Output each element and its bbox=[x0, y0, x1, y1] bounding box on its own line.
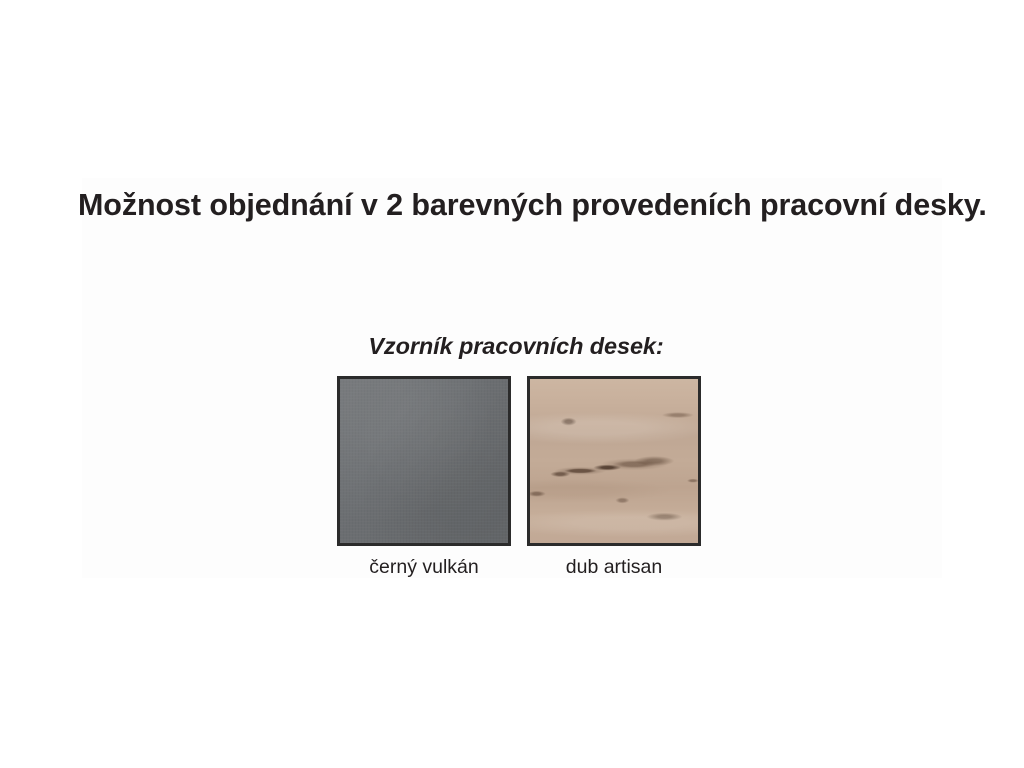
swatch-section-title: Vzorník pracovních desek: bbox=[4, 333, 1024, 360]
swatch-label-dub-artisan: dub artisan bbox=[566, 556, 662, 579]
page-title: Možnost objednání v 2 barevných proveden… bbox=[78, 186, 958, 224]
swatch-cell-cerny-vulkan[interactable]: černý vulkán bbox=[337, 376, 511, 579]
swatch-label-cerny-vulkan: černý vulkán bbox=[369, 556, 478, 579]
swatch-row: černý vulkán dub artisan bbox=[337, 376, 701, 579]
swatch-tile-cerny-vulkan[interactable] bbox=[337, 376, 511, 546]
swatch-tile-dub-artisan[interactable] bbox=[527, 376, 701, 546]
swatch-cell-dub-artisan[interactable]: dub artisan bbox=[527, 376, 701, 579]
